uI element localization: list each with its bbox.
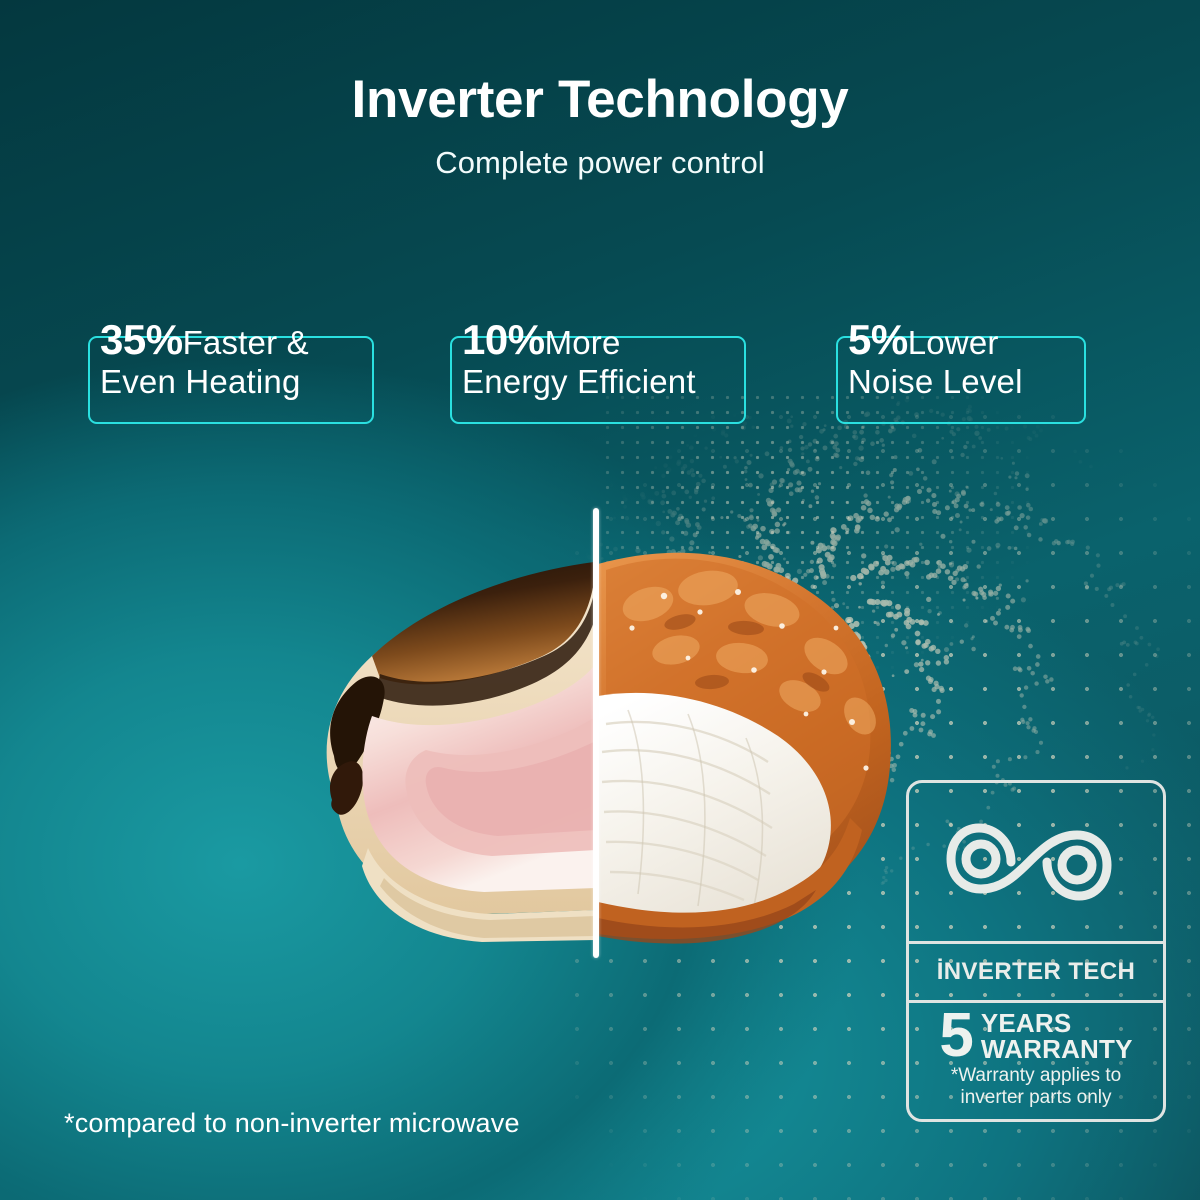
- comparison-divider-line: [593, 508, 599, 958]
- stat-label-part1: Faster &: [183, 324, 309, 361]
- stat-badge-line2: Energy Efficient: [462, 363, 696, 401]
- header-block: Inverter Technology Complete power contr…: [0, 72, 1200, 181]
- stat-badge-row: 35%Faster & Even Heating 10%More Energy …: [0, 316, 1200, 426]
- stat-percent: 10%: [462, 316, 545, 363]
- warranty-logo-section: [909, 783, 1163, 941]
- stat-badge-faster-heating: 35%Faster & Even Heating: [88, 316, 374, 404]
- stat-label-part1: Lower: [908, 324, 999, 361]
- food-right-half: [598, 553, 891, 944]
- warranty-years-words: YEARS WARRANTY: [981, 1010, 1133, 1062]
- stat-percent: 35%: [100, 316, 183, 363]
- stat-label-part2: Noise Level: [848, 363, 1023, 400]
- infographic-canvas: Inverter Technology Complete power contr…: [0, 0, 1200, 1200]
- stat-badge-line2: Noise Level: [848, 363, 1023, 401]
- infinity-icon: [941, 814, 1131, 910]
- stat-badge-line2: Even Heating: [100, 363, 301, 401]
- warranty-note-line2: inverter parts only: [909, 1087, 1163, 1108]
- stat-badge-line1: 35%Faster &: [100, 316, 309, 364]
- warranty-warranty-word: WARRANTY: [981, 1036, 1133, 1062]
- stat-label-part2: Even Heating: [100, 363, 301, 400]
- stat-badge-line1: 10%More: [462, 316, 621, 364]
- stat-percent: 5%: [848, 316, 908, 363]
- footnote-text: *compared to non-inverter microwave: [64, 1108, 520, 1139]
- stat-badge-line1: 5%Lower: [848, 316, 999, 364]
- page-title: Inverter Technology: [0, 72, 1200, 128]
- page-subtitle: Complete power control: [0, 145, 1200, 181]
- warranty-years-section: 5 YEARS WARRANTY: [909, 1003, 1163, 1062]
- stat-badge-noise-level: 5%Lower Noise Level: [836, 316, 1086, 404]
- warranty-years-number: 5: [939, 1009, 973, 1062]
- stat-badge-energy-efficient: 10%More Energy Efficient: [450, 316, 746, 404]
- warranty-years-word: YEARS: [981, 1010, 1133, 1036]
- stat-label-part2: Energy Efficient: [462, 363, 696, 400]
- warranty-tech-label: İNVERTER TECH: [909, 944, 1163, 1000]
- food-left-half: [327, 562, 598, 942]
- stat-label-part1: More: [545, 324, 621, 361]
- warranty-badge: İNVERTER TECH 5 YEARS WARRANTY *Warranty…: [906, 780, 1166, 1122]
